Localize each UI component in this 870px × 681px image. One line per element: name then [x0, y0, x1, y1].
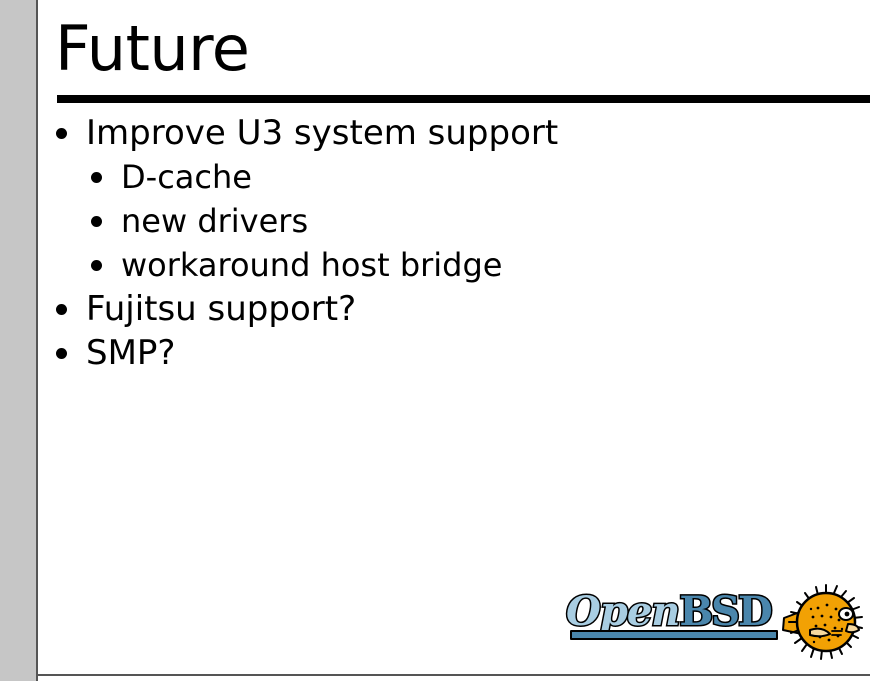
- bullet-dot-icon: [56, 128, 67, 139]
- openbsd-wordmark: OpenBSD: [566, 590, 771, 634]
- list-item: D-cache: [0, 155, 870, 199]
- list-item-label: workaround host bridge: [121, 243, 502, 287]
- bullet-dot-icon: [91, 216, 102, 227]
- bullet-list: Improve U3 system support D-cache new dr…: [0, 111, 870, 375]
- title-underline-rule: [57, 95, 870, 103]
- logo-open-text: Open: [566, 588, 679, 635]
- logo-bsd-text: BSD: [679, 588, 770, 635]
- slide-title: Future: [55, 12, 249, 86]
- list-item: Fujitsu support?: [0, 287, 870, 331]
- bullet-dot-icon: [56, 348, 67, 359]
- bullet-dot-icon: [56, 304, 67, 315]
- list-item-label: SMP?: [86, 331, 175, 375]
- list-item: SMP?: [0, 331, 870, 375]
- bullet-dot-icon: [91, 172, 102, 183]
- puffy-pufferfish-icon: [780, 584, 864, 664]
- logo-underline-bar: [570, 630, 778, 640]
- list-item: workaround host bridge: [0, 243, 870, 287]
- bullet-dot-icon: [91, 260, 102, 271]
- list-item-label: D-cache: [121, 155, 252, 199]
- list-item: Improve U3 system support: [0, 111, 870, 155]
- frame-bottom-rule: [36, 674, 870, 676]
- list-item-label: new drivers: [121, 199, 308, 243]
- list-item: new drivers: [0, 199, 870, 243]
- openbsd-logo: OpenBSD: [566, 588, 862, 670]
- slide: Future Improve U3 system support D-cache…: [0, 0, 870, 681]
- list-item-label: Fujitsu support?: [86, 287, 356, 331]
- list-item-label: Improve U3 system support: [86, 111, 558, 155]
